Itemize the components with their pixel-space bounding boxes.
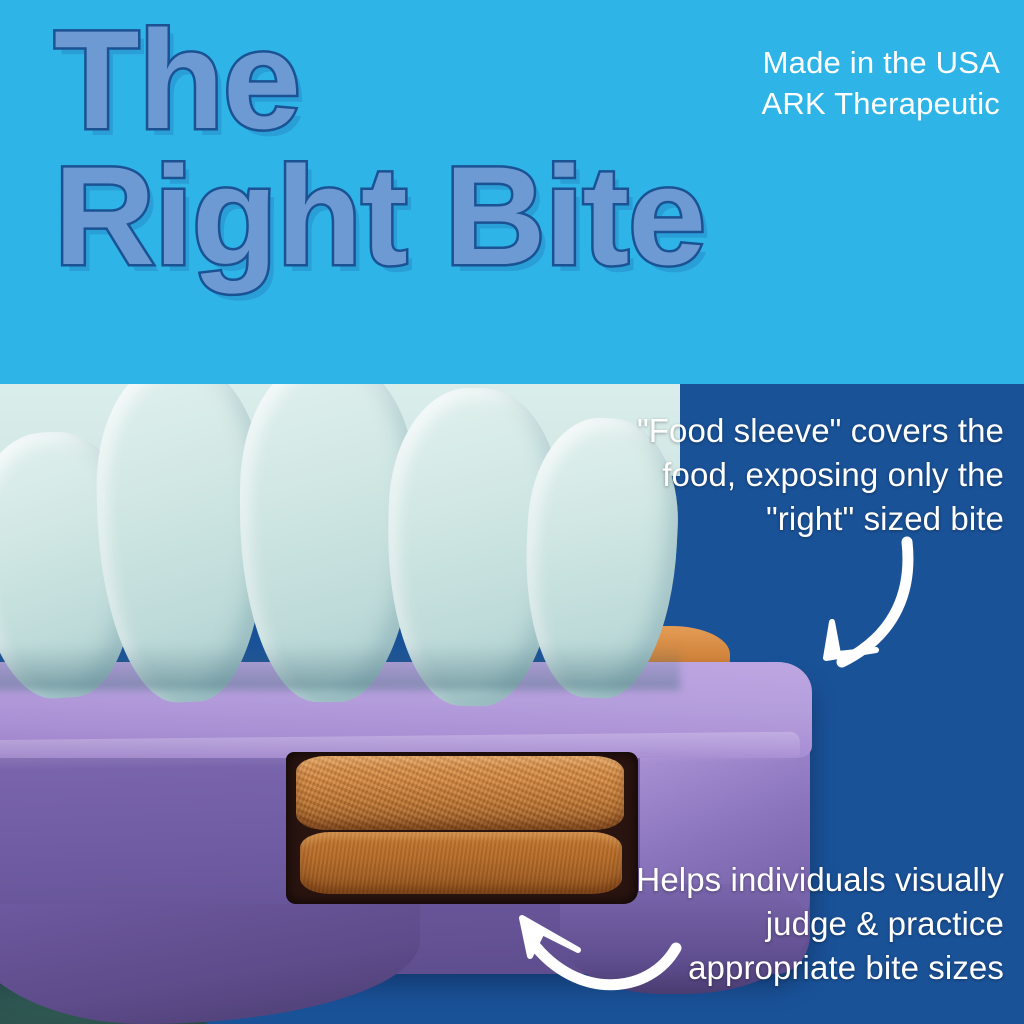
gloved-hand [0, 384, 710, 696]
brand-name-label: ARK Therapeutic [762, 83, 1001, 124]
curved-arrow-down-left-icon [780, 530, 980, 710]
food-piece-upper [296, 756, 624, 830]
product-poster: The Right Bite Made in the USA ARK Thera… [0, 0, 1024, 1024]
made-in-usa-label: Made in the USA [762, 42, 1001, 83]
callout-top-line-1: "Food sleeve" covers the [637, 409, 1004, 453]
hand-shadow [0, 644, 680, 690]
title-line-1: The [54, 16, 705, 144]
header-band: The Right Bite Made in the USA ARK Thera… [0, 0, 1024, 384]
callout-bottom-line-2: judge & practice [636, 902, 1004, 946]
food-sleeve-lower-lip-left [0, 904, 420, 1024]
food-piece-lower [300, 832, 622, 894]
callout-bottom-line-1: Helps individuals visually [636, 858, 1004, 902]
callout-top-line-2: food, exposing only the [637, 453, 1004, 497]
brand-block: Made in the USA ARK Therapeutic [762, 42, 1001, 124]
callout-bite-sizes: Helps individuals visually judge & pract… [636, 858, 1004, 990]
page-title: The Right Bite [54, 16, 705, 280]
curved-arrow-up-left-icon [470, 890, 690, 1010]
callout-food-sleeve: "Food sleeve" covers the food, exposing … [637, 409, 1004, 541]
title-line-2: Right Bite [54, 152, 705, 280]
callout-bottom-line-3: appropriate bite sizes [636, 946, 1004, 990]
